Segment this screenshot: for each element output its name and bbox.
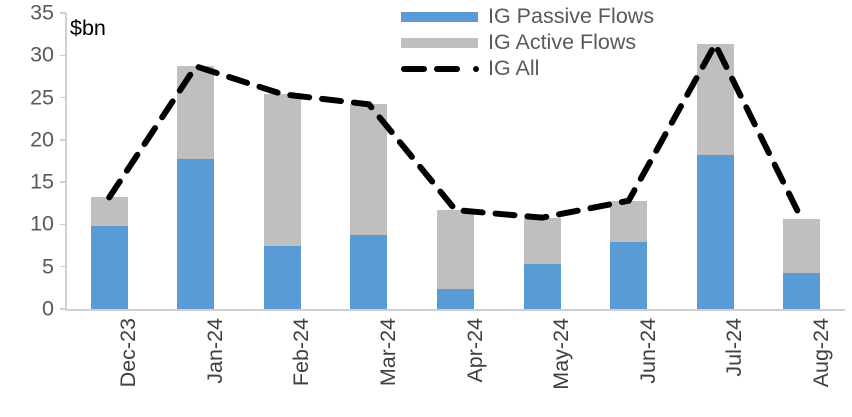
x-tick-label: Jul-24 [724,318,746,377]
y-axis-tick-mark [60,139,66,140]
y-axis-tick-mark [60,12,66,13]
legend-dash-segment [401,66,427,72]
legend-color-swatch [401,4,479,30]
chart-canvas: 05101520253035 $bn Dec-23Jan-24Feb-24Mar… [0,0,852,417]
x-tick-label: Jun-24 [638,318,660,384]
legend-item[interactable]: IG Passive Flows [401,4,721,30]
y-axis-tick-mark [60,266,66,267]
legend-dashed-line-swatch [401,56,479,82]
y-axis-tick-mark [60,308,66,309]
legend-item[interactable]: IG Active Flows [401,30,721,56]
legend-dash-segment [473,66,479,72]
y-axis-tick-mark [60,97,66,98]
y-axis-tick-mark [60,55,66,56]
x-tick-label: Aug-24 [811,318,833,387]
x-tick-label: Mar-24 [378,318,400,386]
gray-swatch [401,38,478,48]
x-tick-label: Feb-24 [291,318,313,386]
x-tick-label: Jan-24 [205,318,227,384]
legend-label: IG All [479,58,539,80]
y-axis-tick-mark [60,181,66,182]
blue-swatch [401,12,478,22]
x-tick-label: Dec-23 [118,318,140,387]
legend-dash-segment [434,66,460,72]
legend-item[interactable]: IG All [401,56,721,82]
x-tick-label: Apr-24 [465,318,487,383]
y-axis-tick-mark [60,224,66,225]
chart-legend: IG Passive FlowsIG Active FlowsIG All [401,4,721,82]
legend-color-swatch [401,30,479,56]
legend-label: IG Passive Flows [479,6,654,28]
legend-label: IG Active Flows [479,32,636,54]
x-tick-label: May-24 [551,318,573,390]
